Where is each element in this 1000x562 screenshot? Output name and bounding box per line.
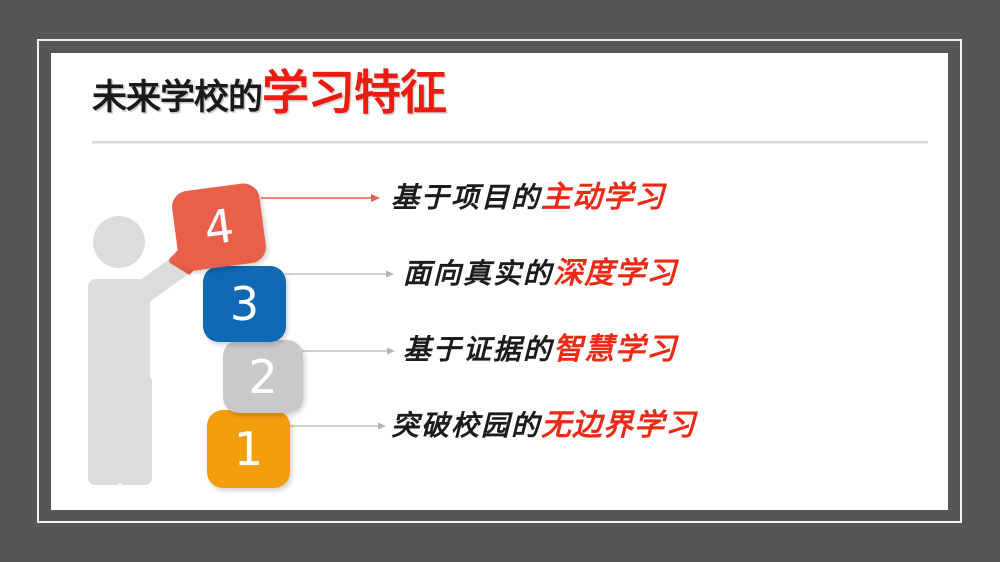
feature-two-black-text: 基于证据的 bbox=[403, 333, 553, 366]
connector-arrow-two bbox=[301, 343, 396, 357]
connector-arrow-one bbox=[289, 418, 387, 432]
feature-one-red-text: 无边界学习 bbox=[541, 408, 696, 443]
title-red-segment: 学习特征 bbox=[262, 66, 446, 121]
block-three-number: 3 bbox=[230, 281, 259, 327]
title-black-segment: 未来学校的 bbox=[92, 78, 262, 118]
block-two-number: 2 bbox=[248, 354, 277, 400]
feature-line-four: 基于项目的主动学习 bbox=[391, 183, 665, 213]
feature-four-black-text: 基于项目的 bbox=[391, 181, 541, 214]
connector-arrow-three bbox=[285, 266, 395, 280]
slide-stage: 未来学校的学习特征 bbox=[0, 0, 1000, 562]
block-four-number: 4 bbox=[201, 202, 236, 251]
slide-canvas: 未来学校的学习特征 bbox=[51, 53, 948, 510]
title-divider-rule bbox=[92, 141, 928, 144]
block-one-number: 1 bbox=[234, 426, 263, 472]
connector-arrow-four bbox=[261, 190, 381, 204]
feature-line-two: 基于证据的智慧学习 bbox=[403, 335, 677, 365]
page-title: 未来学校的学习特征 bbox=[92, 70, 446, 117]
feature-line-one: 突破校园的无边界学习 bbox=[391, 411, 696, 441]
feature-two-red-text: 智慧学习 bbox=[553, 332, 677, 367]
block-three-blue[interactable]: 3 bbox=[203, 266, 286, 342]
block-four-red[interactable]: 4 bbox=[170, 182, 268, 273]
block-one-orange[interactable]: 1 bbox=[207, 410, 290, 488]
feature-one-black-text: 突破校园的 bbox=[391, 409, 541, 442]
feature-three-black-text: 面向真实的 bbox=[403, 257, 553, 290]
feature-three-red-text: 深度学习 bbox=[553, 256, 677, 291]
feature-line-three: 面向真实的深度学习 bbox=[403, 259, 677, 289]
feature-four-red-text: 主动学习 bbox=[541, 180, 665, 215]
block-two-gray[interactable]: 2 bbox=[223, 340, 303, 413]
